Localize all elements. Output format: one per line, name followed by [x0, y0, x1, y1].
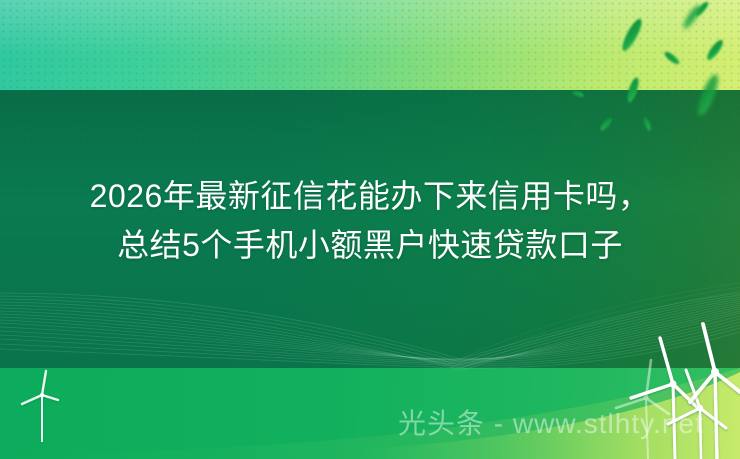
background-band-top — [0, 0, 740, 90]
poster-title-line-1: 2026年最新征信花能办下来信用卡吗， — [0, 172, 740, 221]
poster-canvas: 2026年最新征信花能办下来信用卡吗， 总结5个手机小额黑户快速贷款口子 光头条… — [0, 0, 740, 459]
poster-title-line-2: 总结5个手机小额黑户快速贷款口子 — [0, 221, 740, 270]
site-watermark: 光头条 - www.stlhty.net — [398, 407, 704, 441]
poster-title: 2026年最新征信花能办下来信用卡吗， 总结5个手机小额黑户快速贷款口子 — [0, 172, 740, 270]
